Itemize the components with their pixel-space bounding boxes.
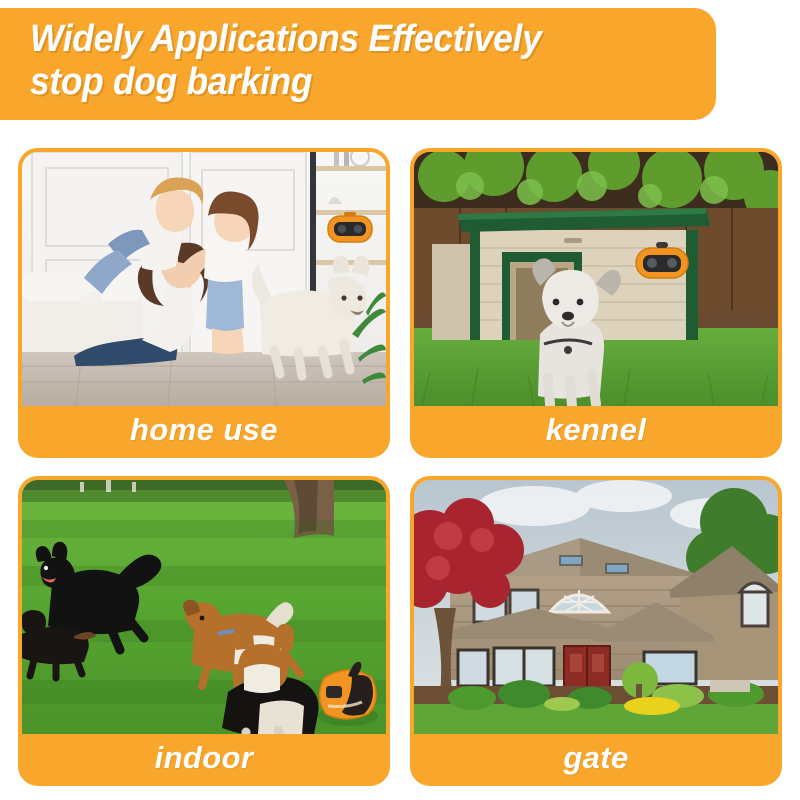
photo-kennel <box>414 152 778 406</box>
panel-card-home-use[interactable]: home use <box>18 148 390 458</box>
caption-home-use: home use <box>22 406 386 454</box>
caption-text: home use <box>130 412 278 448</box>
caption-kennel: kennel <box>414 406 778 454</box>
photo-indoor <box>22 480 386 734</box>
kennel-illustration <box>414 152 778 406</box>
header-title-line-2: stop dog barking <box>30 61 668 104</box>
caption-text: indoor <box>155 740 254 776</box>
panel-card-kennel[interactable]: kennel <box>410 148 782 458</box>
panel-card-gate[interactable]: gate <box>410 476 782 786</box>
photo-home-use <box>22 152 386 406</box>
caption-text: gate <box>563 740 628 776</box>
panel-card-indoor[interactable]: indoor <box>18 476 390 786</box>
indoor-illustration <box>22 480 386 734</box>
home-use-illustration <box>22 152 386 406</box>
header-banner: Widely Applications Effectively stop dog… <box>0 8 716 120</box>
device-on-shelf <box>328 212 372 242</box>
photo-gate <box>414 480 778 734</box>
caption-indoor: indoor <box>22 734 386 782</box>
caption-text: kennel <box>546 412 647 448</box>
header-title-line-1: Widely Applications Effectively <box>30 18 668 61</box>
gate-illustration <box>414 480 778 734</box>
caption-gate: gate <box>414 734 778 782</box>
application-grid: home use <box>18 148 782 786</box>
infographic-page: Widely Applications Effectively stop dog… <box>0 0 800 800</box>
